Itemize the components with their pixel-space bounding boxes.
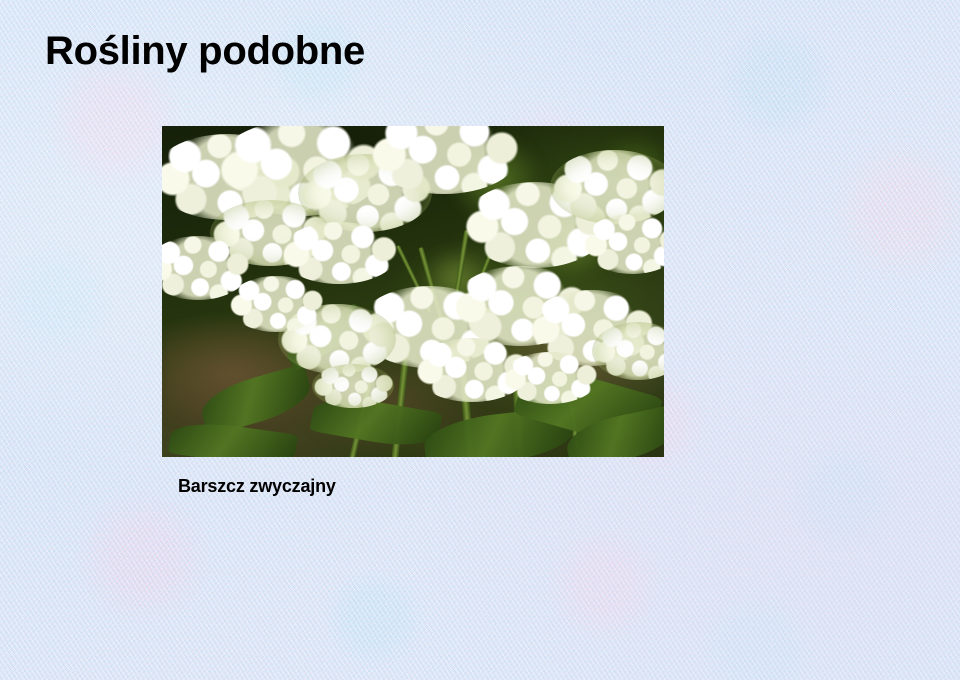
photo-flower-umbel xyxy=(582,214,664,274)
photo-flower-umbel xyxy=(280,222,398,284)
plant-photo xyxy=(162,126,664,457)
slide-title: Rośliny podobne xyxy=(45,30,365,73)
photo-flower-umbel xyxy=(312,364,394,408)
photo-flower-umbel xyxy=(592,322,664,380)
photo-caption: Barszcz zwyczajny xyxy=(178,476,336,497)
photo-flower-umbel xyxy=(502,352,598,404)
photo-flower-umbel xyxy=(228,276,324,332)
presentation-slide: Rośliny podobne xyxy=(0,0,960,680)
